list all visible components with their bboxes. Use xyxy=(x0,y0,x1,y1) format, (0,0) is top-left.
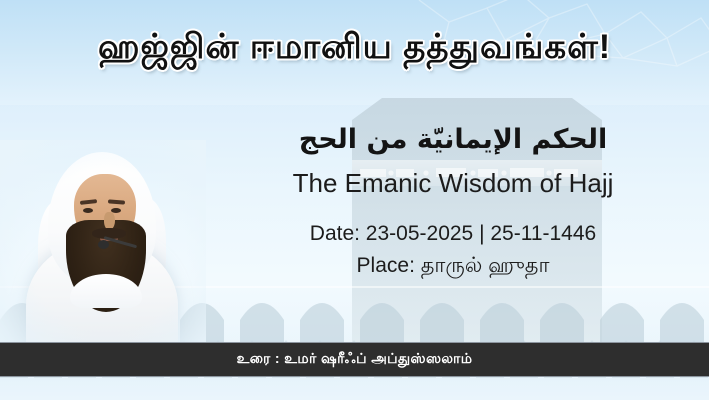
speaker-name-bar: உரை : உமர் ஷரீஃப் அப்துஸ்ஸலாம் xyxy=(0,342,709,377)
speaker-photo xyxy=(8,148,198,344)
poster-title-tamil: ஹஜ்ஜின் ஈமானிய தத்துவங்கள்! xyxy=(0,28,709,71)
poster-title-arabic: الحكم الإيمانيّة من الحج xyxy=(218,122,688,158)
poster-title-english: The Emanic Wisdom of Hajj xyxy=(218,168,688,199)
poster-text-block: الحكم الإيمانيّة من الحج The Emanic Wisd… xyxy=(218,122,688,279)
event-poster: ஹஜ்ஜின் ஈமானிய தத்துவங்கள்! الحكم الإيما… xyxy=(0,0,709,400)
speaker-name-text: உரை : உமர் ஷரீஃப் அப்துஸ்ஸலாம் xyxy=(237,350,473,369)
event-place: Place: தாருல் ஹுதா xyxy=(218,252,688,279)
footer-strip xyxy=(0,378,709,400)
headset-microphone-icon xyxy=(98,240,109,249)
event-date: Date: 23-05-2025 | 25-11-1446 xyxy=(218,221,688,247)
speaker-eye-left xyxy=(83,208,93,213)
